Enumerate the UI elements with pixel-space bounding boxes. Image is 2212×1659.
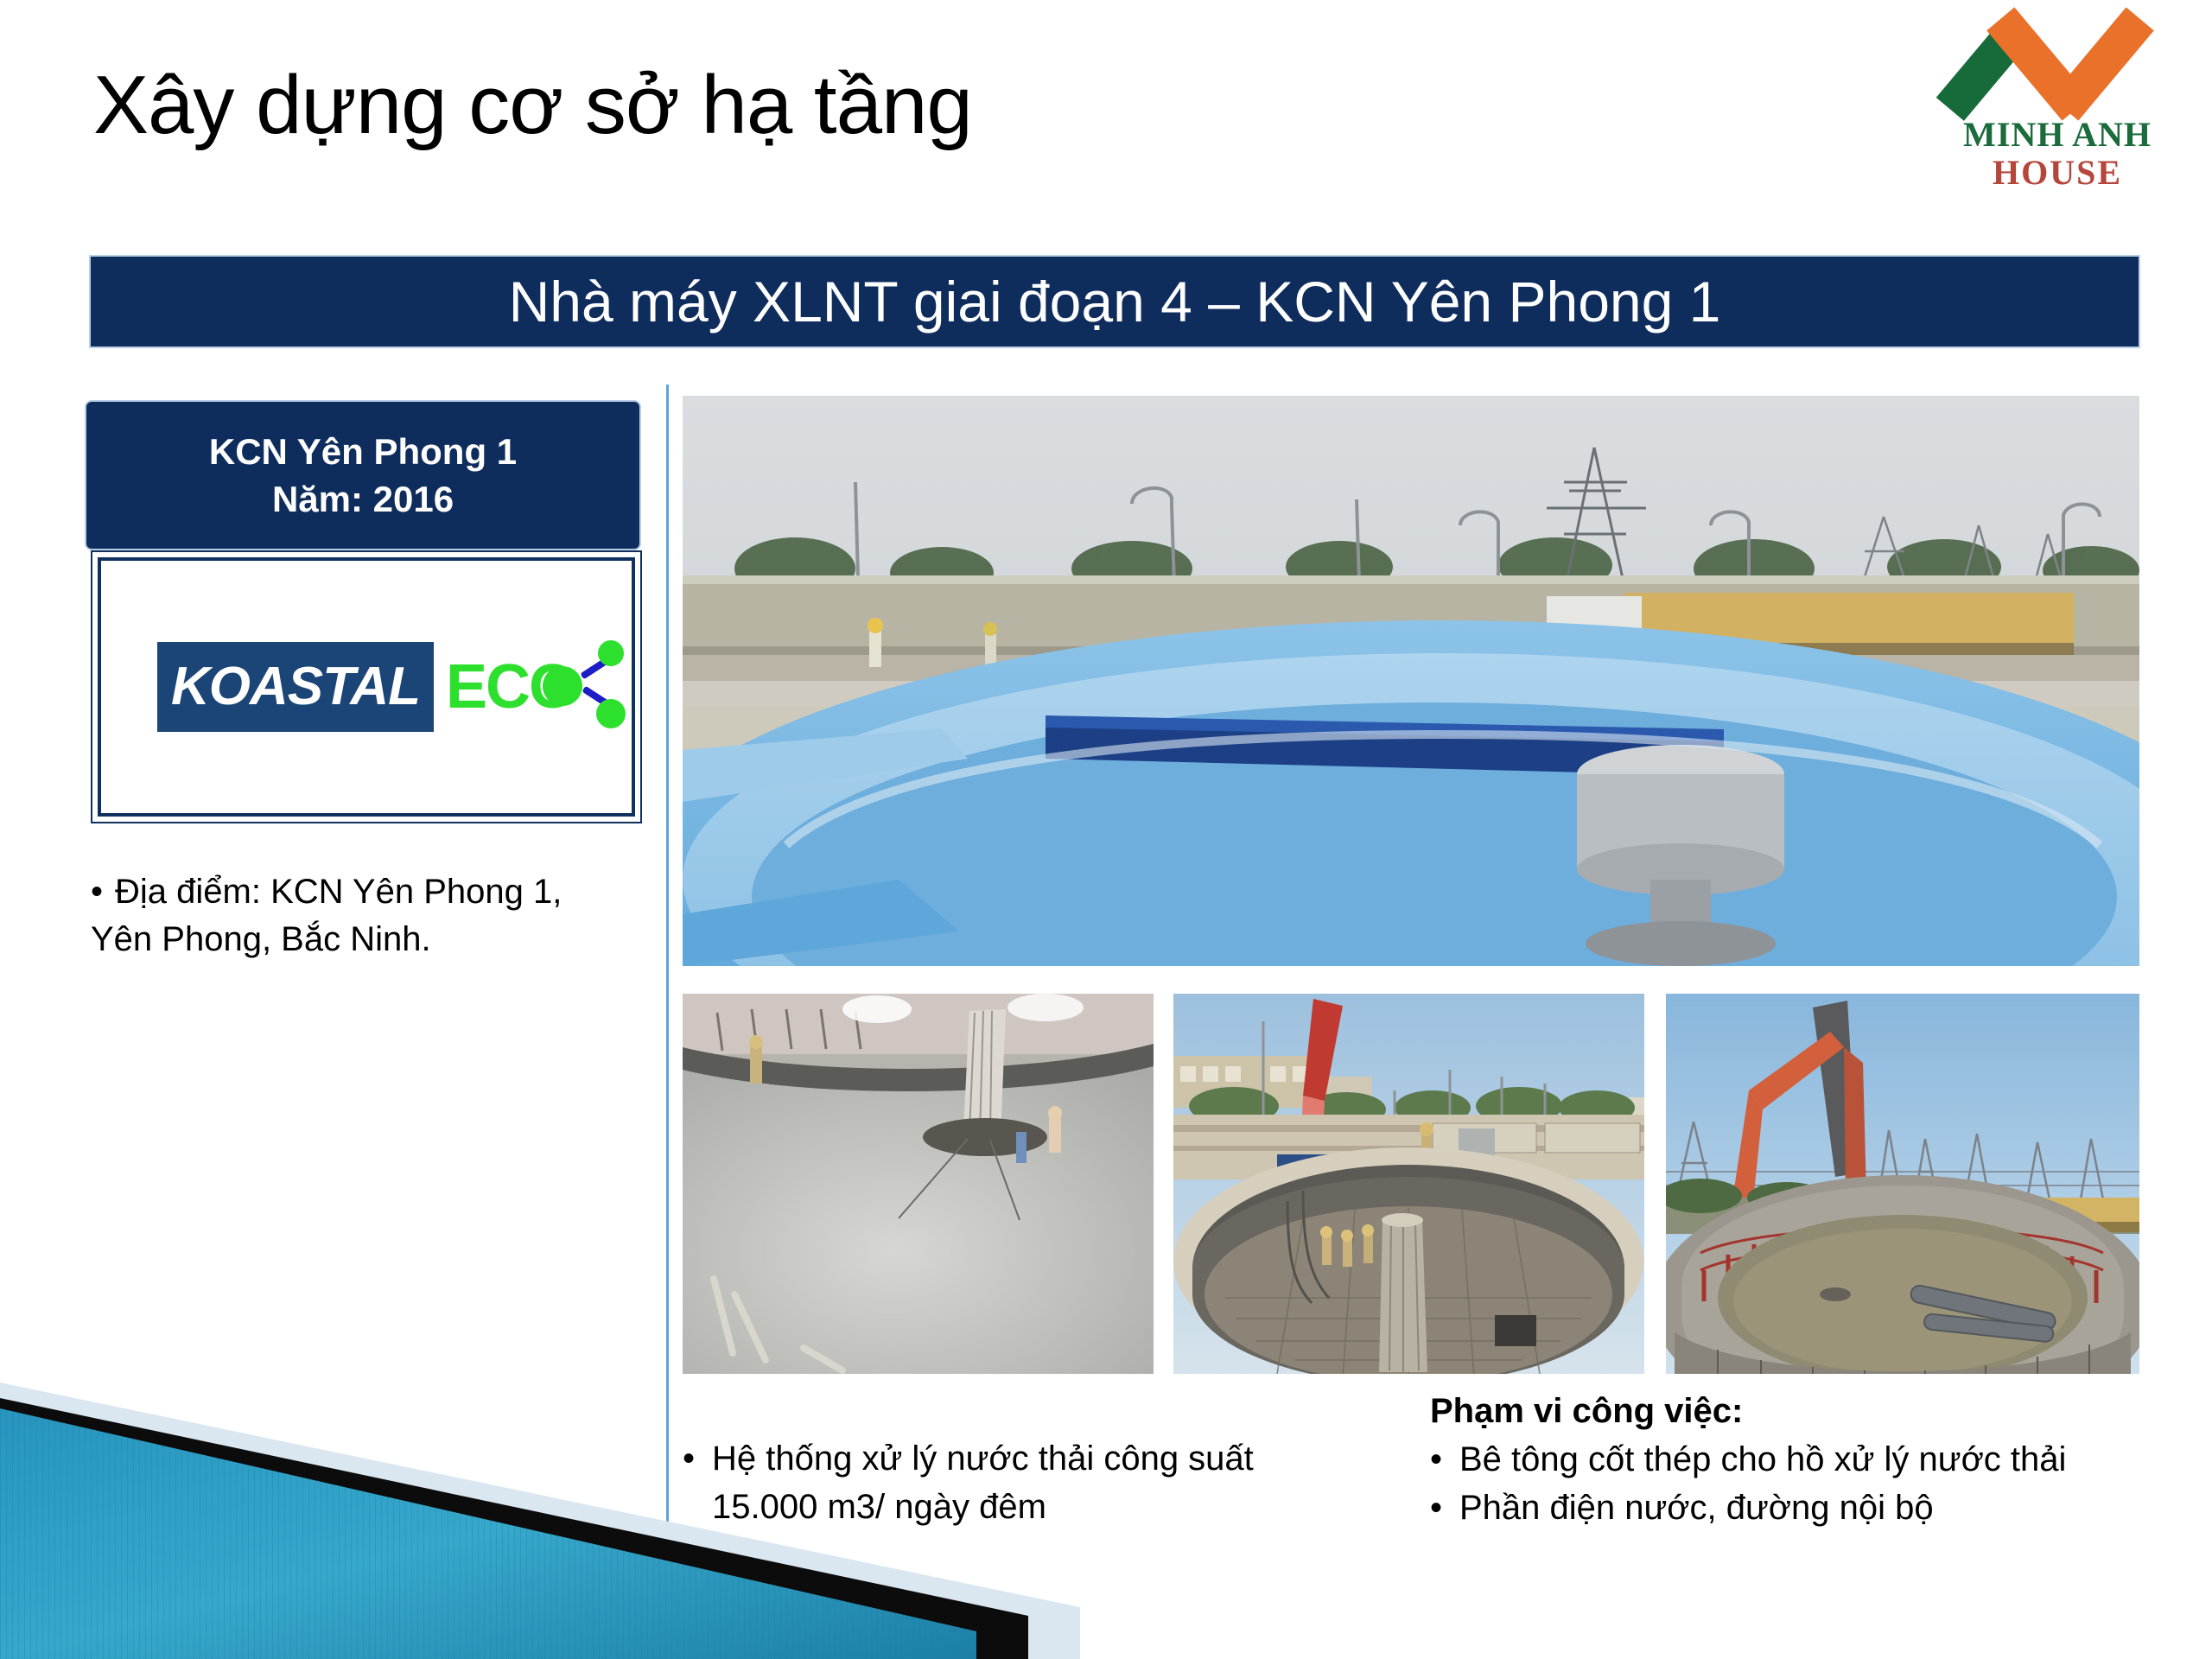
molecule-dot-lower-icon xyxy=(596,699,626,728)
page-title: Xây dựng cơ sở hạ tầng xyxy=(93,62,972,149)
capacity-caption: • Hệ thống xử lý nước thải công suất 15.… xyxy=(683,1434,1365,1531)
bullet-icon: • xyxy=(683,1434,712,1531)
photo-tank-interior-concrete xyxy=(683,994,1154,1374)
capacity-text: Hệ thống xử lý nước thải công suất 15.00… xyxy=(712,1434,1365,1531)
location-bullet: •Địa điểm: KCN Yên Phong 1, Yên Phong, B… xyxy=(91,868,626,963)
scope-item: • Bê tông cốt thép cho hồ xử lý nước thả… xyxy=(1430,1435,2173,1484)
logo-name-line1: MINH ANH xyxy=(1949,114,2165,155)
bullet-icon: • xyxy=(1430,1484,1459,1532)
project-info-card: KCN Yên Phong 1 Năm: 2016 xyxy=(86,402,639,549)
project-year: Năm: 2016 xyxy=(272,475,454,523)
logo-chevron-right-stroke xyxy=(2050,7,2154,120)
vertical-divider xyxy=(666,385,669,1586)
location-text: Địa điểm: KCN Yên Phong 1, Yên Phong, Bắ… xyxy=(91,873,562,958)
section-banner: Nhà máy XLNT giai đoạn 4 – KCN Yên Phong… xyxy=(91,257,2139,346)
scope-item-text: Bê tông cốt thép cho hồ xử lý nước thải xyxy=(1459,1435,2066,1484)
logo-orange-chevron xyxy=(1994,10,2139,114)
koastal-eco-logo: KOASTAL ECO xyxy=(157,642,575,732)
section-banner-title: Nhà máy XLNT giai đoạn 4 – KCN Yên Phong… xyxy=(509,269,1721,334)
koastal-wordmark: KOASTAL xyxy=(171,660,420,714)
company-logo: MINH ANH HOUSE xyxy=(1949,7,2165,195)
scope-item-text: Phần điện nước, đường nội bộ xyxy=(1459,1484,1934,1532)
photo-clarifier-tank-blue xyxy=(683,396,2139,966)
bullet-icon: • xyxy=(1430,1435,1459,1484)
project-name: KCN Yên Phong 1 xyxy=(209,428,517,475)
photo-tank-construction-pump xyxy=(1173,994,1644,1374)
bullet-icon: • xyxy=(91,873,103,911)
koastal-wordmark-box: KOASTAL xyxy=(157,642,434,732)
molecule-dot-center-icon xyxy=(543,666,582,706)
molecule-dot-upper-icon xyxy=(598,640,624,666)
scope-heading: Phạm vi công việc: xyxy=(1430,1387,2173,1435)
logo-name-line2: HOUSE xyxy=(1949,152,2165,193)
scope-item: • Phần điện nước, đường nội bộ xyxy=(1430,1484,2173,1532)
eco-wordmark-group: ECO xyxy=(446,642,575,732)
house-roof-icon xyxy=(1949,7,2165,118)
client-logo-frame: KOASTAL ECO xyxy=(98,557,635,817)
photo-tank-rebar-formwork xyxy=(1666,994,2139,1374)
scope-of-work-block: Phạm vi công việc: • Bê tông cốt thép ch… xyxy=(1430,1387,2173,1532)
